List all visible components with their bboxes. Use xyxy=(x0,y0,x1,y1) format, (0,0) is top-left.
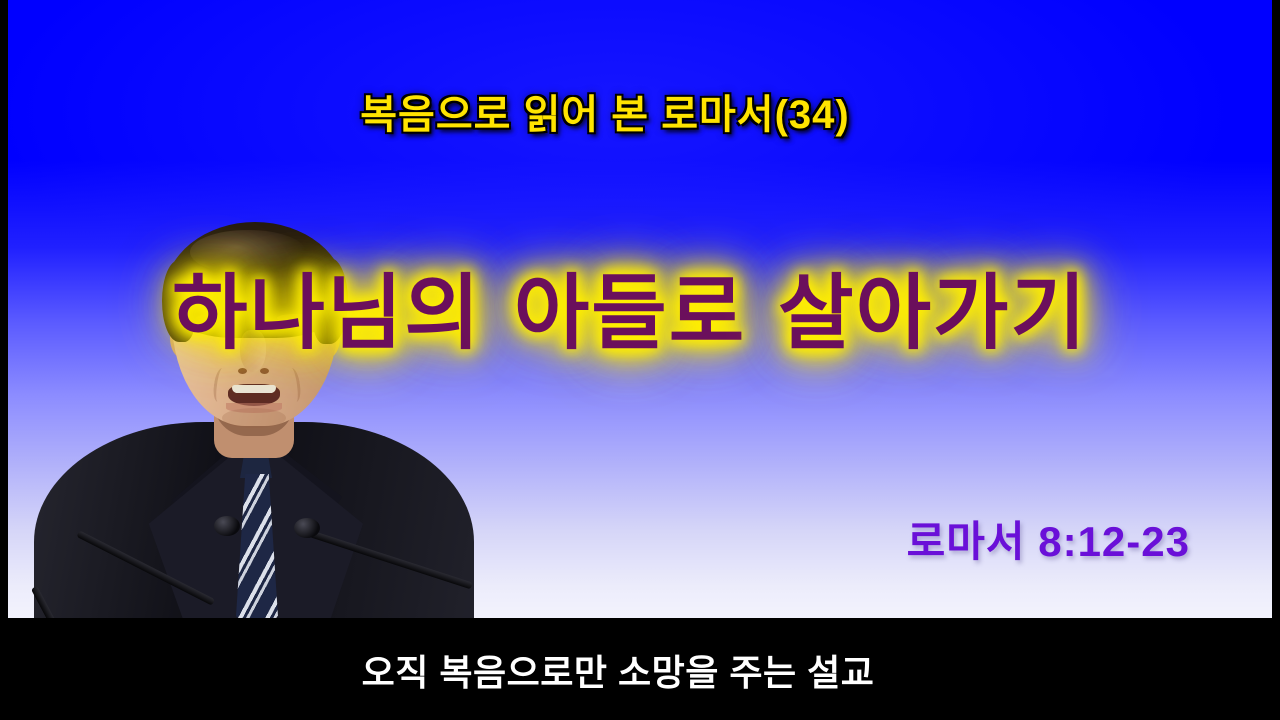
chin-shadow xyxy=(222,408,286,428)
series-title: 복음으로 읽어 본 로마서(34) xyxy=(4,82,1276,140)
main-title-word-2: 아들로 xyxy=(514,246,746,365)
nostril-left xyxy=(238,368,247,374)
teeth xyxy=(232,385,276,393)
microphone-right-capsule xyxy=(294,518,320,538)
main-title: 하나님의아들로살아가기 xyxy=(4,246,1276,365)
caption-text: 오직 복음으로만 소망을 주는 설교 xyxy=(0,644,1280,696)
microphone-left-capsule xyxy=(214,516,240,536)
video-frame: 복음으로 읽어 본 로마서(34) 하나님의아들로살아가기 로마서 8:12-2… xyxy=(4,0,1276,618)
letterbox-left-edge xyxy=(4,0,8,618)
main-title-word-1: 하나님의 xyxy=(172,246,482,365)
main-title-word-3: 살아가기 xyxy=(778,246,1088,365)
nostril-right xyxy=(260,368,269,374)
scripture-reference: 로마서 8:12-23 xyxy=(907,508,1190,569)
letterbox-right-edge xyxy=(1272,0,1276,618)
caption-bar: 오직 복음으로만 소망을 주는 설교 xyxy=(0,618,1280,720)
screenshot-root: 복음으로 읽어 본 로마서(34) 하나님의아들로살아가기 로마서 8:12-2… xyxy=(0,0,1280,720)
